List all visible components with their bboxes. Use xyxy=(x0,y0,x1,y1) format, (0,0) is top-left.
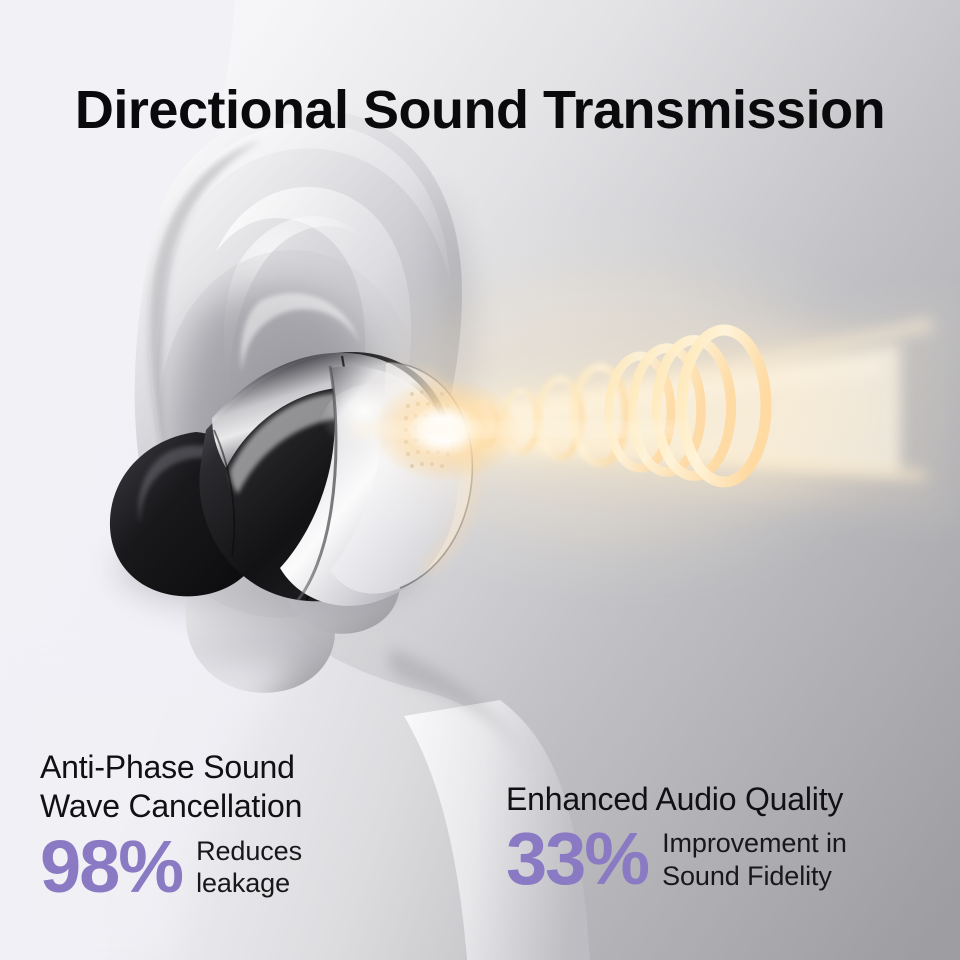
stat-title: Anti-Phase Sound Wave Cancellation xyxy=(40,748,480,827)
stat-title-line: Enhanced Audio Quality xyxy=(506,780,946,819)
stat-value-percentage: 33% xyxy=(506,823,648,894)
stat-row: 33% Improvement in Sound Fidelity xyxy=(506,823,946,894)
stat-row: 98% Reduces leakage xyxy=(40,831,480,902)
stat-title-line: Anti-Phase Sound xyxy=(40,748,480,787)
lens-flare-streak xyxy=(350,424,680,435)
stat-caption-line: Sound Fidelity xyxy=(662,860,847,892)
stat-value-percentage: 98% xyxy=(40,831,182,902)
stat-caption-line: Reduces xyxy=(196,835,302,867)
stat-title-line: Wave Cancellation xyxy=(40,787,480,826)
stat-title: Enhanced Audio Quality xyxy=(506,780,946,819)
stat-block-audio-quality: Enhanced Audio Quality 33% Improvement i… xyxy=(506,780,946,894)
stat-caption: Reduces leakage xyxy=(196,833,302,900)
stat-caption-line: leakage xyxy=(196,867,302,899)
stat-caption-line: Improvement in xyxy=(662,827,847,859)
stat-caption: Improvement in Sound Fidelity xyxy=(662,825,847,892)
page-title: Directional Sound Transmission xyxy=(0,82,960,139)
stat-block-anti-phase: Anti-Phase Sound Wave Cancellation 98% R… xyxy=(40,748,480,902)
marketing-banner: Directional Sound Transmission Anti-Phas… xyxy=(0,0,960,960)
